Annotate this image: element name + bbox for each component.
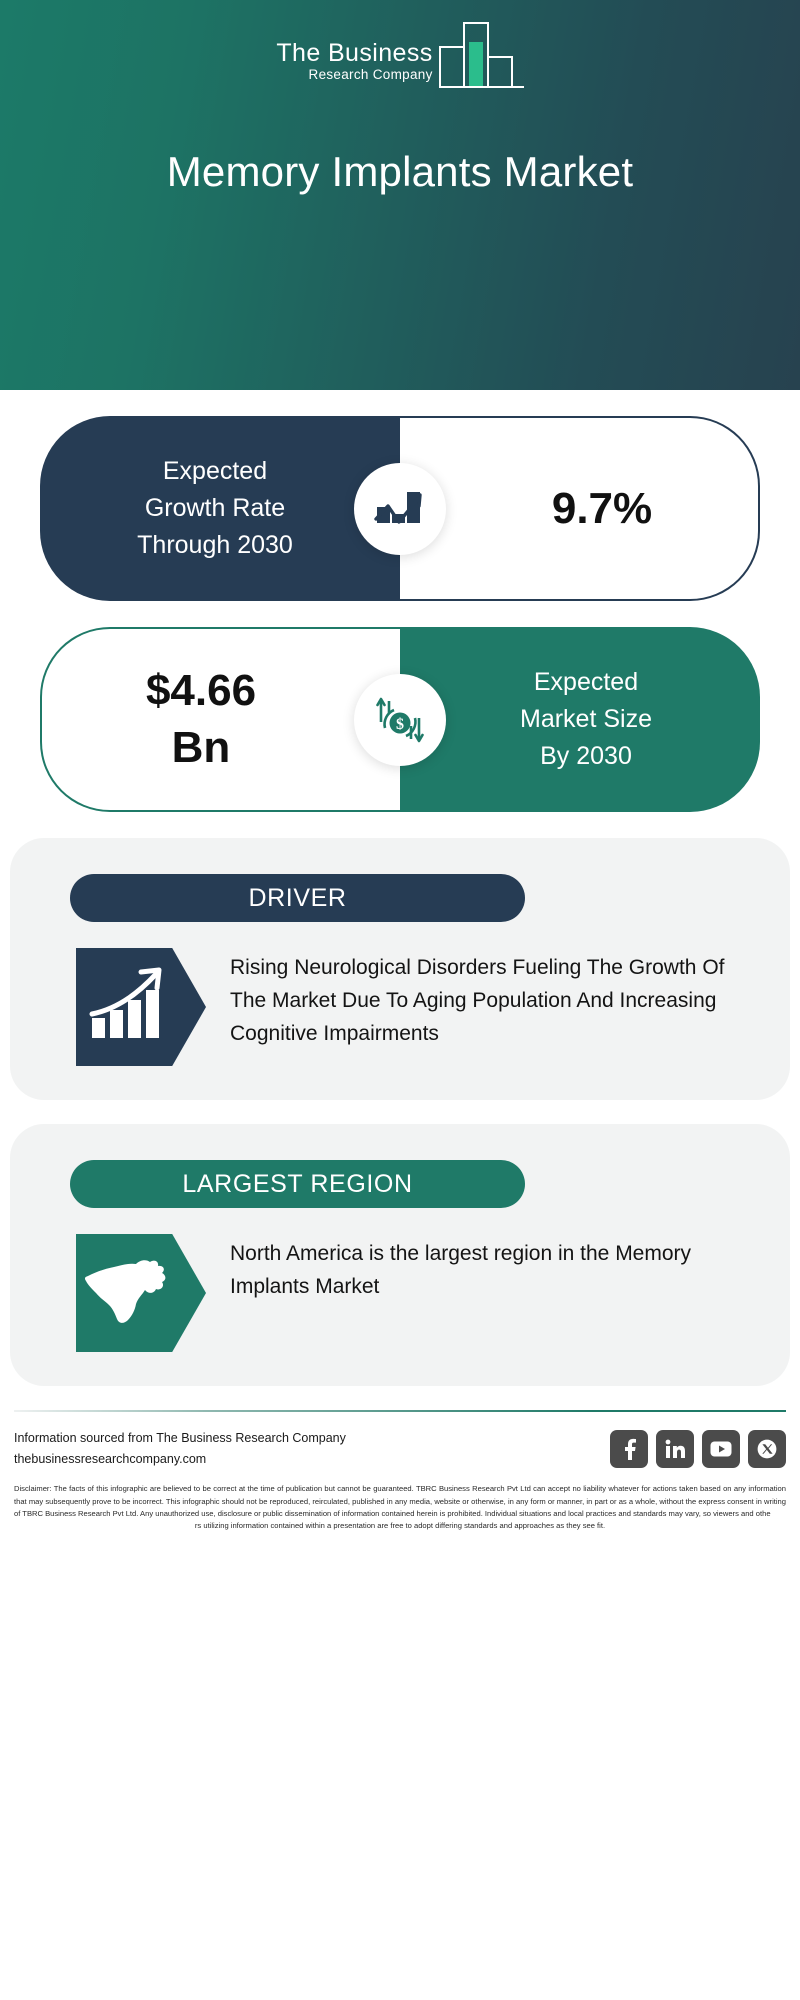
stat-label-line-3: Through 2030 [137, 531, 293, 559]
footer-source-line: Information sourced from The Business Re… [14, 1428, 346, 1449]
disclaimer-main: Disclaimer: The facts of this infographi… [14, 1484, 786, 1518]
stat-label-panel: Expected Growth Rate Through 2030 [40, 416, 400, 601]
driver-text: Rising Neurological Disorders Fueling Th… [230, 948, 754, 1066]
market-size-value-line-2: Bn [172, 723, 231, 772]
stat-label-panel: Expected Market Size By 2030 [400, 627, 760, 812]
stats-section: Expected Growth Rate Through 2030 9.7% $… [0, 390, 800, 812]
stat-label-line-3: By 2030 [540, 742, 632, 770]
header-banner: The Business Research Company Memory Imp… [0, 0, 800, 390]
largest-region-text: North America is the largest region in t… [230, 1234, 754, 1352]
company-logo: The Business Research Company [0, 22, 800, 88]
stat-card-growth-rate: Expected Growth Rate Through 2030 9.7% [40, 416, 760, 601]
dollar-cycle-icon: $ [354, 674, 446, 766]
disclaimer-last-line: rs utilizing information contained withi… [14, 1520, 786, 1532]
footer: Information sourced from The Business Re… [0, 1410, 800, 1532]
stat-label-line-2: Growth Rate [145, 494, 285, 522]
stat-value-panel: $4.66 Bn [40, 627, 400, 812]
driver-body: Rising Neurological Disorders Fueling Th… [10, 922, 790, 1066]
bar-chart-logo-icon [439, 22, 524, 88]
x-twitter-icon[interactable] [748, 1430, 786, 1468]
social-links [610, 1430, 786, 1468]
north-america-map-icon [76, 1234, 206, 1352]
facebook-icon[interactable] [610, 1430, 648, 1468]
driver-pill: DRIVER [70, 874, 525, 922]
driver-panel: DRIVER Rising Neurological Disorders Fue… [10, 838, 790, 1100]
logo-line-2: Research Company [276, 66, 432, 84]
largest-region-body: North America is the largest region in t… [10, 1208, 790, 1352]
growth-bars-arrow-icon [76, 948, 206, 1066]
logo-text: The Business Research Company [276, 40, 432, 88]
linkedin-icon[interactable] [656, 1430, 694, 1468]
stat-card-market-size: $4.66 Bn Expected Market Size By 2030 $ [40, 627, 760, 812]
market-size-value-line-1: $4.66 [146, 666, 256, 715]
footer-website-link[interactable]: thebusinessresearchcompany.com [14, 1449, 346, 1470]
market-size-value: $4.66 Bn [146, 663, 296, 776]
largest-region-pill: LARGEST REGION [70, 1160, 525, 1208]
footer-row: Information sourced from The Business Re… [14, 1428, 786, 1469]
disclaimer-text: Disclaimer: The facts of this infographi… [14, 1483, 786, 1532]
stat-value-panel: 9.7% [400, 416, 760, 601]
growth-rate-value: 9.7% [506, 484, 652, 534]
page-title: Memory Implants Market [0, 148, 800, 196]
svg-text:$: $ [396, 716, 404, 733]
growth-chart-icon [354, 463, 446, 555]
logo-line-1: The Business [276, 40, 432, 66]
largest-region-panel: LARGEST REGION North America is the larg… [10, 1124, 790, 1386]
stat-label-line-1: Expected [534, 668, 638, 696]
stat-label-line-2: Market Size [520, 705, 652, 733]
footer-divider [14, 1410, 786, 1412]
footer-info: Information sourced from The Business Re… [14, 1428, 346, 1469]
youtube-icon[interactable] [702, 1430, 740, 1468]
stat-label-line-1: Expected [163, 457, 267, 485]
